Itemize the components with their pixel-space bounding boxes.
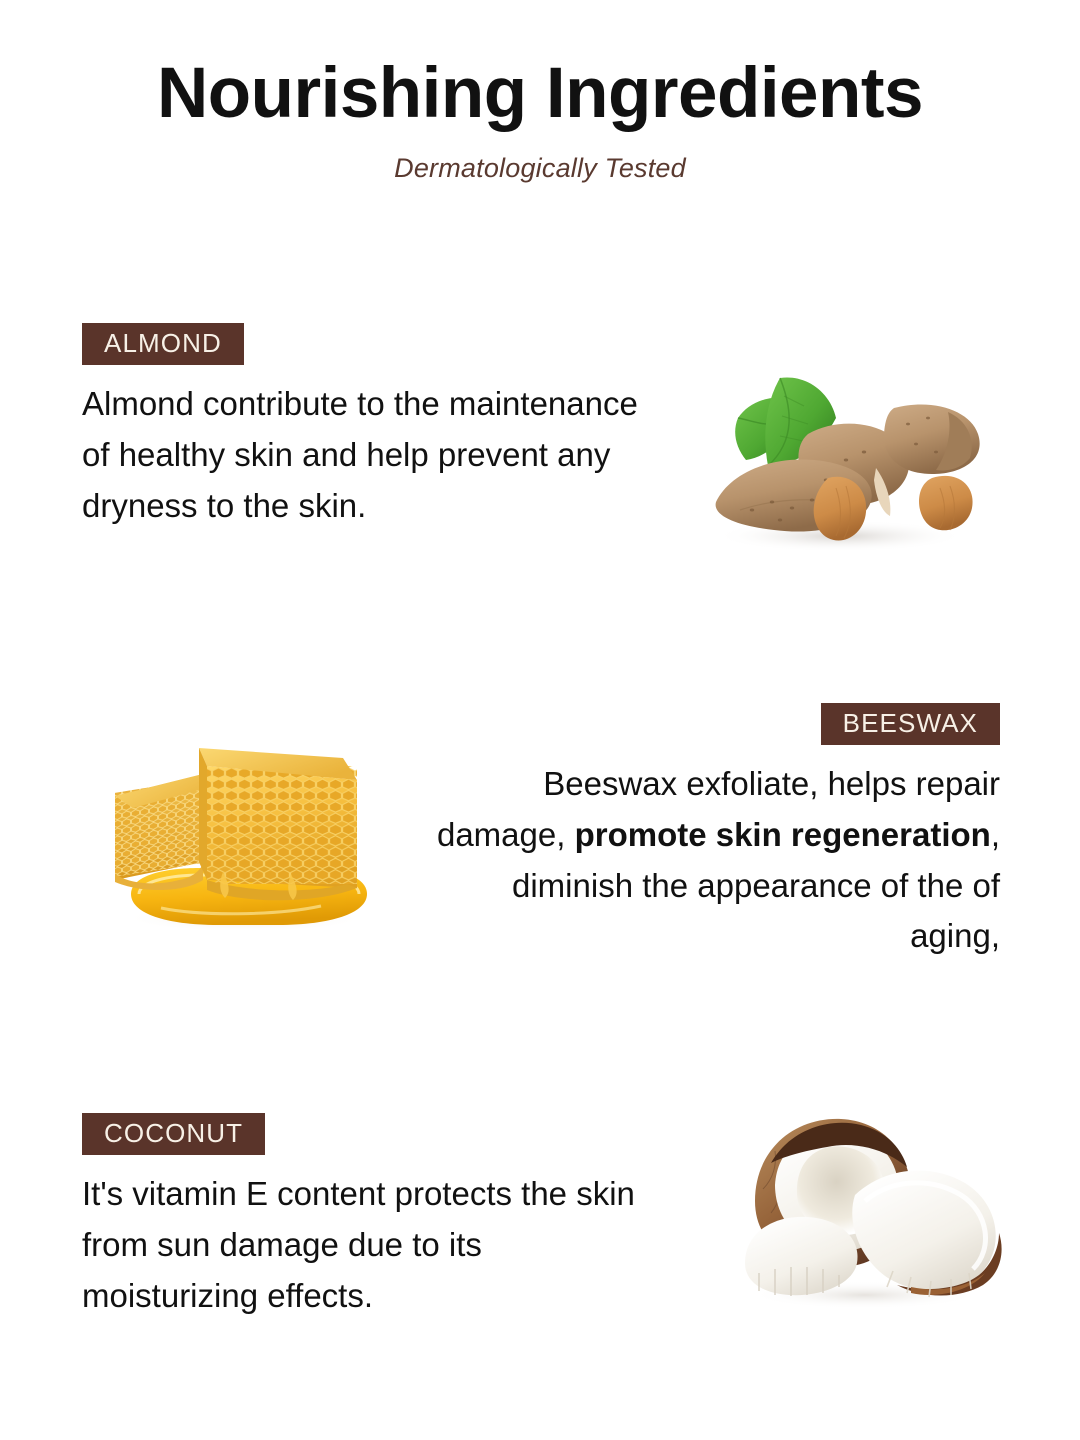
header: Nourishing Ingredients Dermatologically … bbox=[0, 56, 1080, 184]
section-coconut: COCONUT It's vitamin E content protects … bbox=[82, 1113, 662, 1321]
almond-image bbox=[680, 360, 1005, 565]
section-almond: ALMOND Almond contribute to the maintena… bbox=[82, 323, 652, 531]
page-title: Nourishing Ingredients bbox=[0, 56, 1080, 131]
beeswax-image bbox=[95, 722, 395, 940]
badge-coconut: COCONUT bbox=[82, 1113, 265, 1155]
description-coconut: It's vitamin E content protects the skin… bbox=[82, 1169, 662, 1321]
ingredient-infographic: Nourishing Ingredients Dermatologically … bbox=[0, 0, 1080, 1440]
description-almond: Almond contribute to the maintenance of … bbox=[82, 379, 652, 531]
description-beeswax: Beeswax exfoliate, helps repair damage, … bbox=[430, 759, 1000, 962]
coconut-image bbox=[715, 1105, 1010, 1317]
page-subtitle: Dermatologically Tested bbox=[0, 153, 1080, 184]
badge-almond: ALMOND bbox=[82, 323, 244, 365]
section-beeswax: BEESWAX Beeswax exfoliate, helps repair … bbox=[430, 703, 1000, 962]
badge-beeswax: BEESWAX bbox=[821, 703, 1000, 745]
